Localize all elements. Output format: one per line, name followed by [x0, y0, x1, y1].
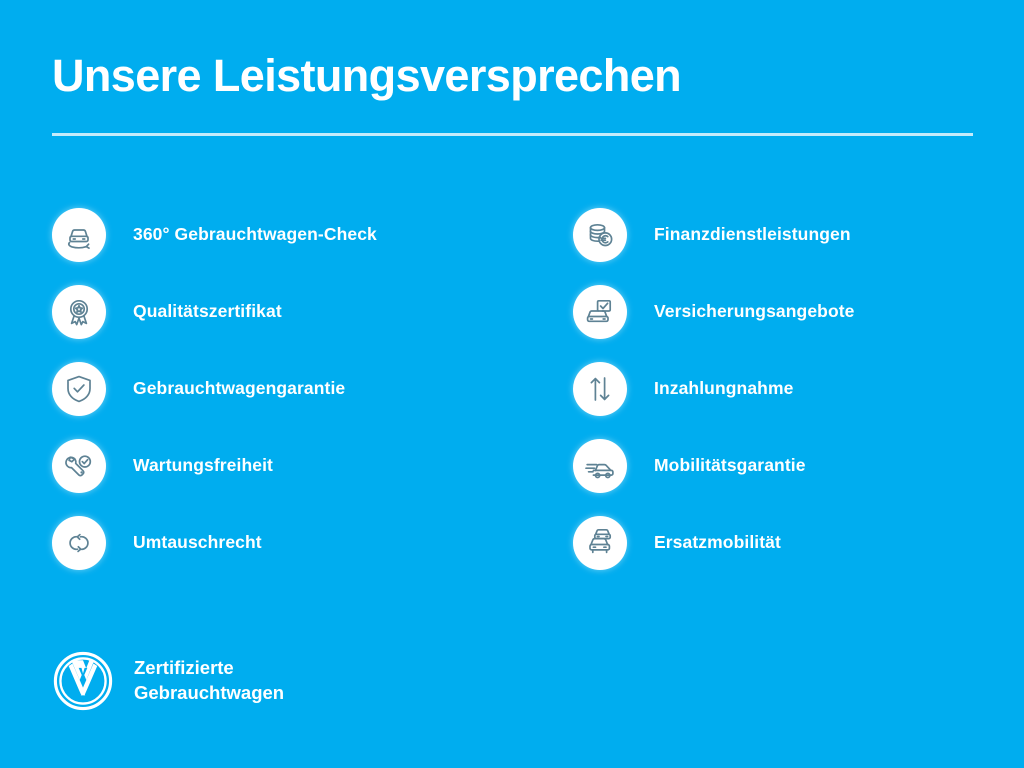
- feature-label: Gebrauchtwagengarantie: [133, 378, 345, 399]
- features-column-left: 360° Gebrauchtwagen-Check Qualitätszerti…: [52, 196, 522, 581]
- wrench-check-icon: [52, 439, 106, 493]
- feature-label: Finanzdienstleistungen: [654, 224, 851, 245]
- feature-item[interactable]: Inzahlungnahme: [573, 350, 1003, 427]
- feature-label: Umtauschrecht: [133, 532, 262, 553]
- feature-label: 360° Gebrauchtwagen-Check: [133, 224, 377, 245]
- feature-label: Inzahlungnahme: [654, 378, 793, 399]
- car-document-check-icon: [573, 285, 627, 339]
- feature-label: Versicherungsangebote: [654, 301, 855, 322]
- features-column-right: Finanzdienstleistungen Versicherungsang: [573, 196, 1003, 581]
- feature-item[interactable]: Ersatzmobilität: [573, 504, 1003, 581]
- feature-item[interactable]: Finanzdienstleistungen: [573, 196, 1003, 273]
- promise-slide: Unsere Leistungsversprechen 360° Gebrauc…: [0, 0, 1024, 768]
- brand-lockup: Zertifizierte Gebrauchtwagen: [52, 650, 284, 712]
- title-divider: [52, 133, 973, 136]
- feature-label: Wartungsfreiheit: [133, 455, 273, 476]
- two-cars-icon: [573, 516, 627, 570]
- feature-item[interactable]: Wartungsfreiheit: [52, 427, 522, 504]
- brand-text: Zertifizierte Gebrauchtwagen: [134, 656, 284, 706]
- award-rosette-icon: [52, 285, 106, 339]
- feature-item[interactable]: 360° Gebrauchtwagen-Check: [52, 196, 522, 273]
- feature-item[interactable]: Versicherungsangebote: [573, 273, 1003, 350]
- feature-item[interactable]: Umtauschrecht: [52, 504, 522, 581]
- coins-euro-icon: [573, 208, 627, 262]
- car-speed-icon: [573, 439, 627, 493]
- feature-item[interactable]: Mobilitätsgarantie: [573, 427, 1003, 504]
- shield-check-icon: [52, 362, 106, 416]
- feature-item[interactable]: Gebrauchtwagengarantie: [52, 350, 522, 427]
- volkswagen-logo: [52, 650, 114, 712]
- feature-item[interactable]: Qualitätszertifikat: [52, 273, 522, 350]
- exchange-arrows-icon: [52, 516, 106, 570]
- feature-label: Qualitätszertifikat: [133, 301, 282, 322]
- feature-label: Ersatzmobilität: [654, 532, 781, 553]
- feature-label: Mobilitätsgarantie: [654, 455, 806, 476]
- car-360-check-icon: [52, 208, 106, 262]
- page-title: Unsere Leistungsversprechen: [52, 52, 681, 101]
- brand-line-1: Zertifizierte: [134, 656, 284, 681]
- brand-line-2: Gebrauchtwagen: [134, 681, 284, 706]
- arrows-up-down-icon: [573, 362, 627, 416]
